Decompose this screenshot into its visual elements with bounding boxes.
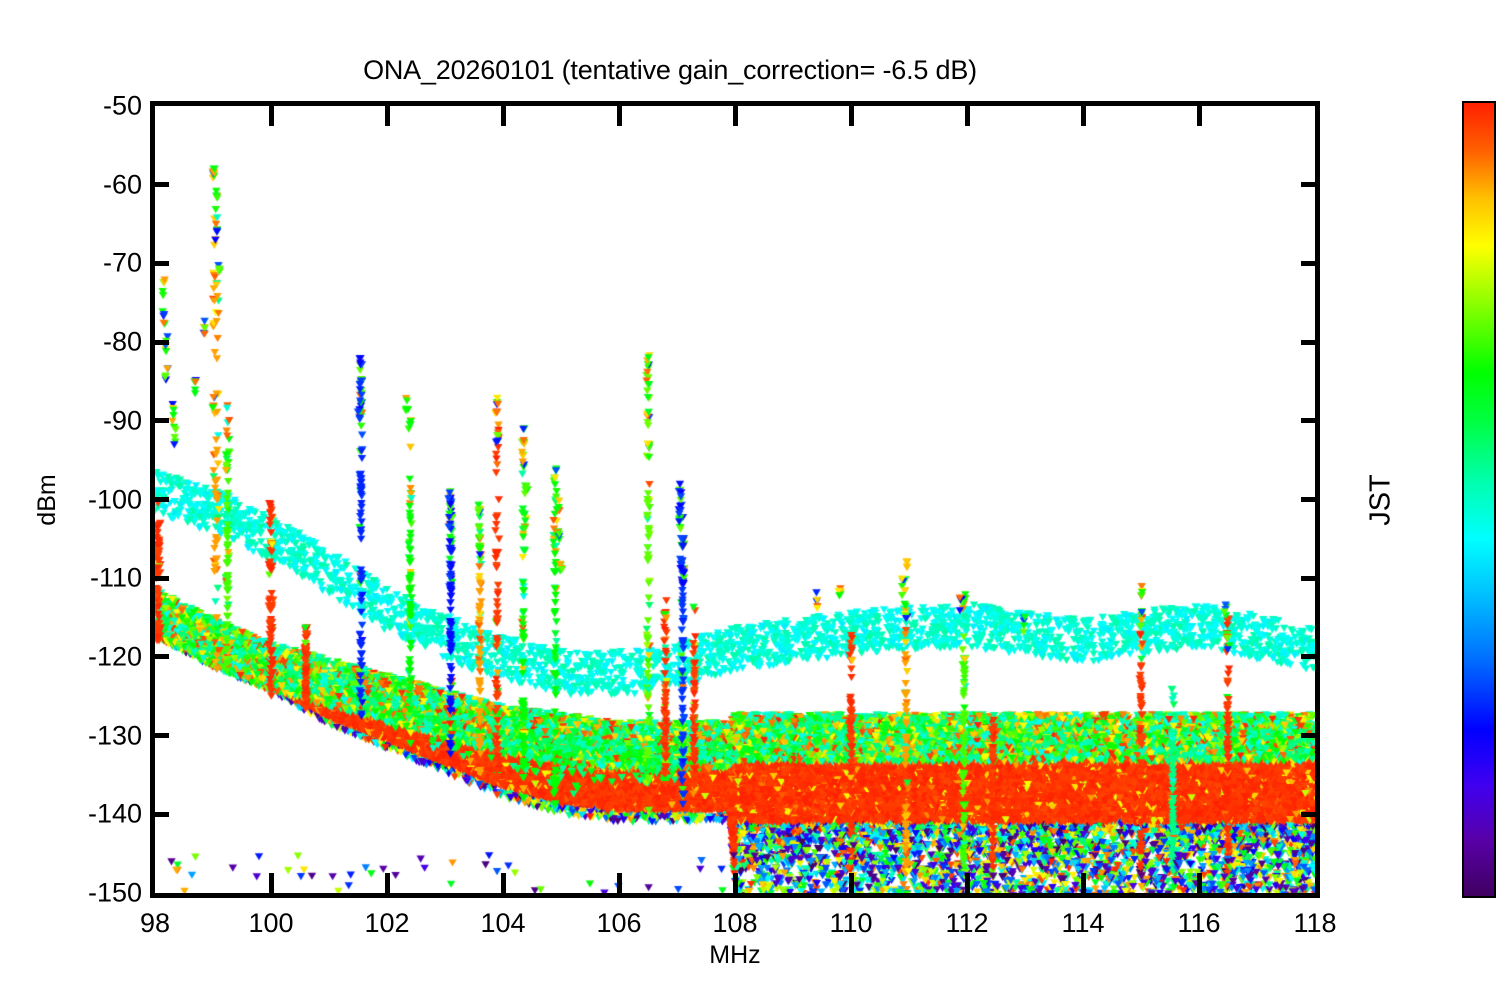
spectrum-plot-page: ONA_20260101 (tentative gain_correction=… — [0, 0, 1500, 1000]
y-tick-label: -130 — [88, 720, 142, 751]
y-tick-mark — [1301, 812, 1320, 817]
y-tick-mark — [1301, 733, 1320, 738]
x-tick-mark — [269, 101, 274, 126]
x-tick-label: 100 — [248, 908, 293, 939]
y-tick-mark — [1301, 182, 1320, 187]
y-tick-label: -150 — [88, 878, 142, 909]
x-tick-mark — [501, 873, 506, 898]
x-tick-mark — [617, 873, 622, 898]
x-tick-mark — [385, 873, 390, 898]
y-tick-mark — [1301, 576, 1320, 581]
y-tick-mark — [1301, 418, 1320, 423]
y-tick-label: -120 — [88, 641, 142, 672]
y-tick-mark — [1301, 497, 1320, 502]
colorbar-title: JST — [1364, 474, 1397, 526]
x-tick-label: 108 — [712, 908, 757, 939]
y-tick-label: -70 — [103, 248, 142, 279]
x-axis-title: MHz — [709, 941, 760, 970]
y-tick-mark — [1301, 340, 1320, 345]
x-tick-mark — [965, 101, 970, 126]
y-tick-mark — [150, 576, 169, 581]
y-tick-label: -90 — [103, 405, 142, 436]
y-tick-mark — [150, 261, 169, 266]
x-tick-label: 98 — [140, 908, 170, 939]
x-tick-mark — [385, 101, 390, 126]
x-tick-mark — [849, 873, 854, 898]
y-tick-mark — [1301, 654, 1320, 659]
scatter-data-layer — [155, 106, 1315, 893]
y-tick-mark — [150, 340, 169, 345]
colorbar-gradient — [1462, 101, 1496, 898]
y-tick-label: -80 — [103, 327, 142, 358]
x-tick-mark — [733, 873, 738, 898]
y-tick-mark — [150, 418, 169, 423]
x-tick-mark — [501, 101, 506, 126]
x-tick-label: 112 — [945, 908, 988, 939]
x-tick-mark — [965, 873, 970, 898]
x-tick-mark — [849, 101, 854, 126]
x-tick-label: 118 — [1293, 908, 1336, 939]
x-tick-label: 106 — [596, 908, 641, 939]
x-tick-mark — [1081, 101, 1086, 126]
x-tick-label: 116 — [1177, 908, 1220, 939]
y-tick-mark — [150, 812, 169, 817]
y-tick-mark — [150, 733, 169, 738]
x-tick-label: 104 — [480, 908, 525, 939]
y-tick-label: -110 — [90, 563, 142, 594]
x-tick-mark — [1197, 101, 1202, 126]
x-tick-label: 114 — [1061, 908, 1104, 939]
y-axis-title: dBm — [33, 474, 62, 525]
x-tick-label: 110 — [829, 908, 872, 939]
y-tick-label: -60 — [103, 169, 142, 200]
x-tick-label: 102 — [364, 908, 409, 939]
y-tick-label: -140 — [88, 799, 142, 830]
page-title: ONA_20260101 (tentative gain_correction=… — [0, 55, 1340, 86]
x-tick-mark — [1197, 873, 1202, 898]
x-tick-mark — [1081, 873, 1086, 898]
y-tick-mark — [1301, 261, 1320, 266]
x-tick-mark — [269, 873, 274, 898]
x-tick-mark — [617, 101, 622, 126]
y-tick-label: -50 — [103, 91, 142, 122]
x-tick-mark — [733, 101, 738, 126]
y-tick-mark — [150, 654, 169, 659]
y-tick-label: -100 — [88, 484, 142, 515]
colorbar — [1462, 101, 1496, 898]
y-tick-mark — [150, 182, 169, 187]
y-tick-mark — [150, 497, 169, 502]
